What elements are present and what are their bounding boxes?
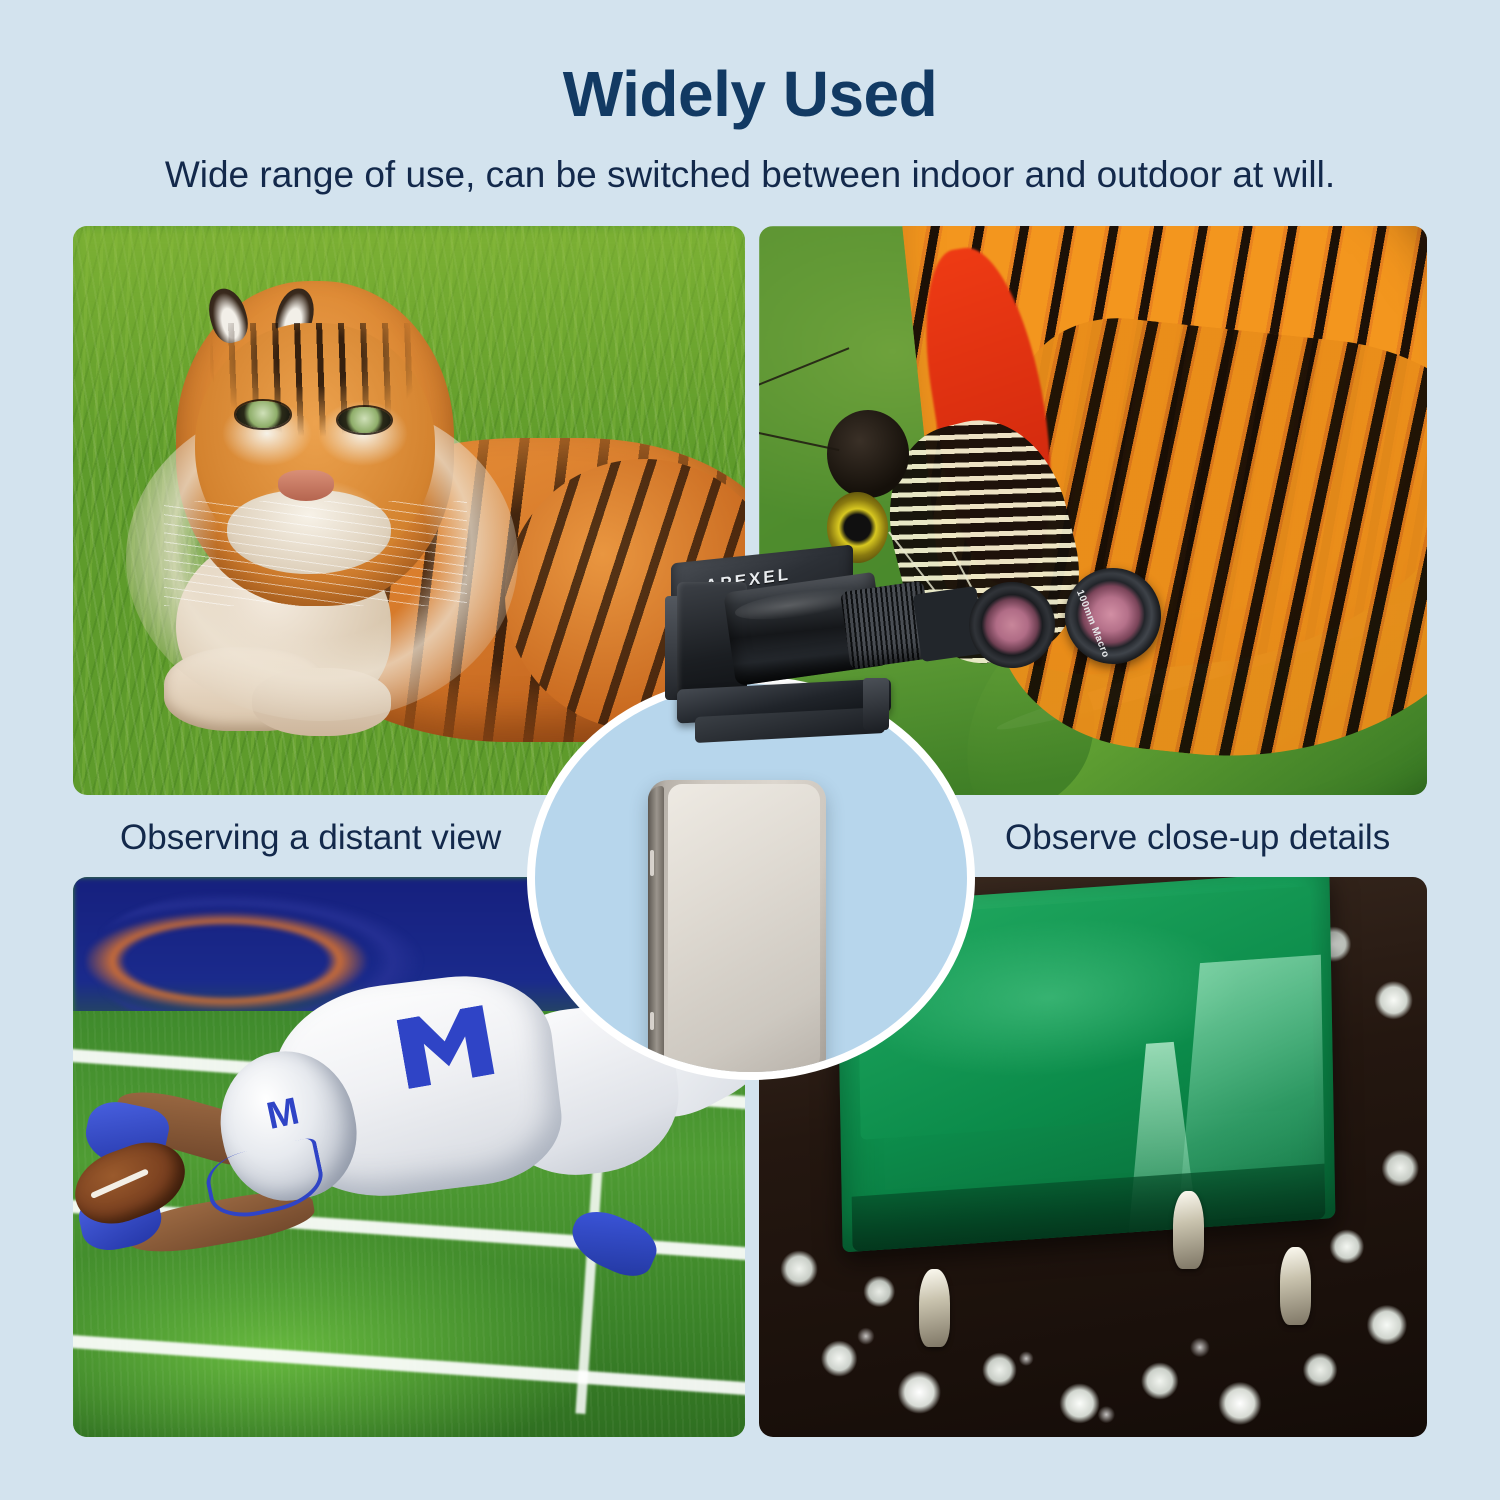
butterfly-head — [827, 410, 909, 497]
clamp-adjuster-knob — [863, 678, 889, 730]
phone-power-button — [650, 1012, 654, 1030]
setting-prong-right — [1280, 1247, 1311, 1325]
caption-close-up: Observe close-up details — [1005, 818, 1390, 858]
tiger-right-eye — [338, 407, 392, 433]
macro-lens-label: 100mm Macro — [1074, 588, 1095, 620]
product-inset: APEXEL 100mm Macro — [527, 652, 977, 1102]
player-cleat-front — [563, 1202, 664, 1285]
page-title: Widely Used — [0, 62, 1500, 126]
butterfly-antenna-left — [759, 347, 849, 410]
tiger-nose — [278, 470, 335, 501]
phone-volume-button — [650, 850, 654, 876]
apexel-lens-rig: APEXEL 100mm Macro — [545, 552, 975, 832]
promo-page: Widely Used Wide range of use, can be sw… — [0, 0, 1500, 1500]
page-subtitle: Wide range of use, can be switched betwe… — [0, 155, 1500, 196]
setting-prong-center — [1173, 1191, 1204, 1269]
tiger-whiskers — [164, 501, 467, 606]
setting-prong-left — [919, 1269, 950, 1347]
caption-distant-view: Observing a distant view — [120, 818, 501, 858]
tiger-left-eye — [236, 401, 290, 427]
